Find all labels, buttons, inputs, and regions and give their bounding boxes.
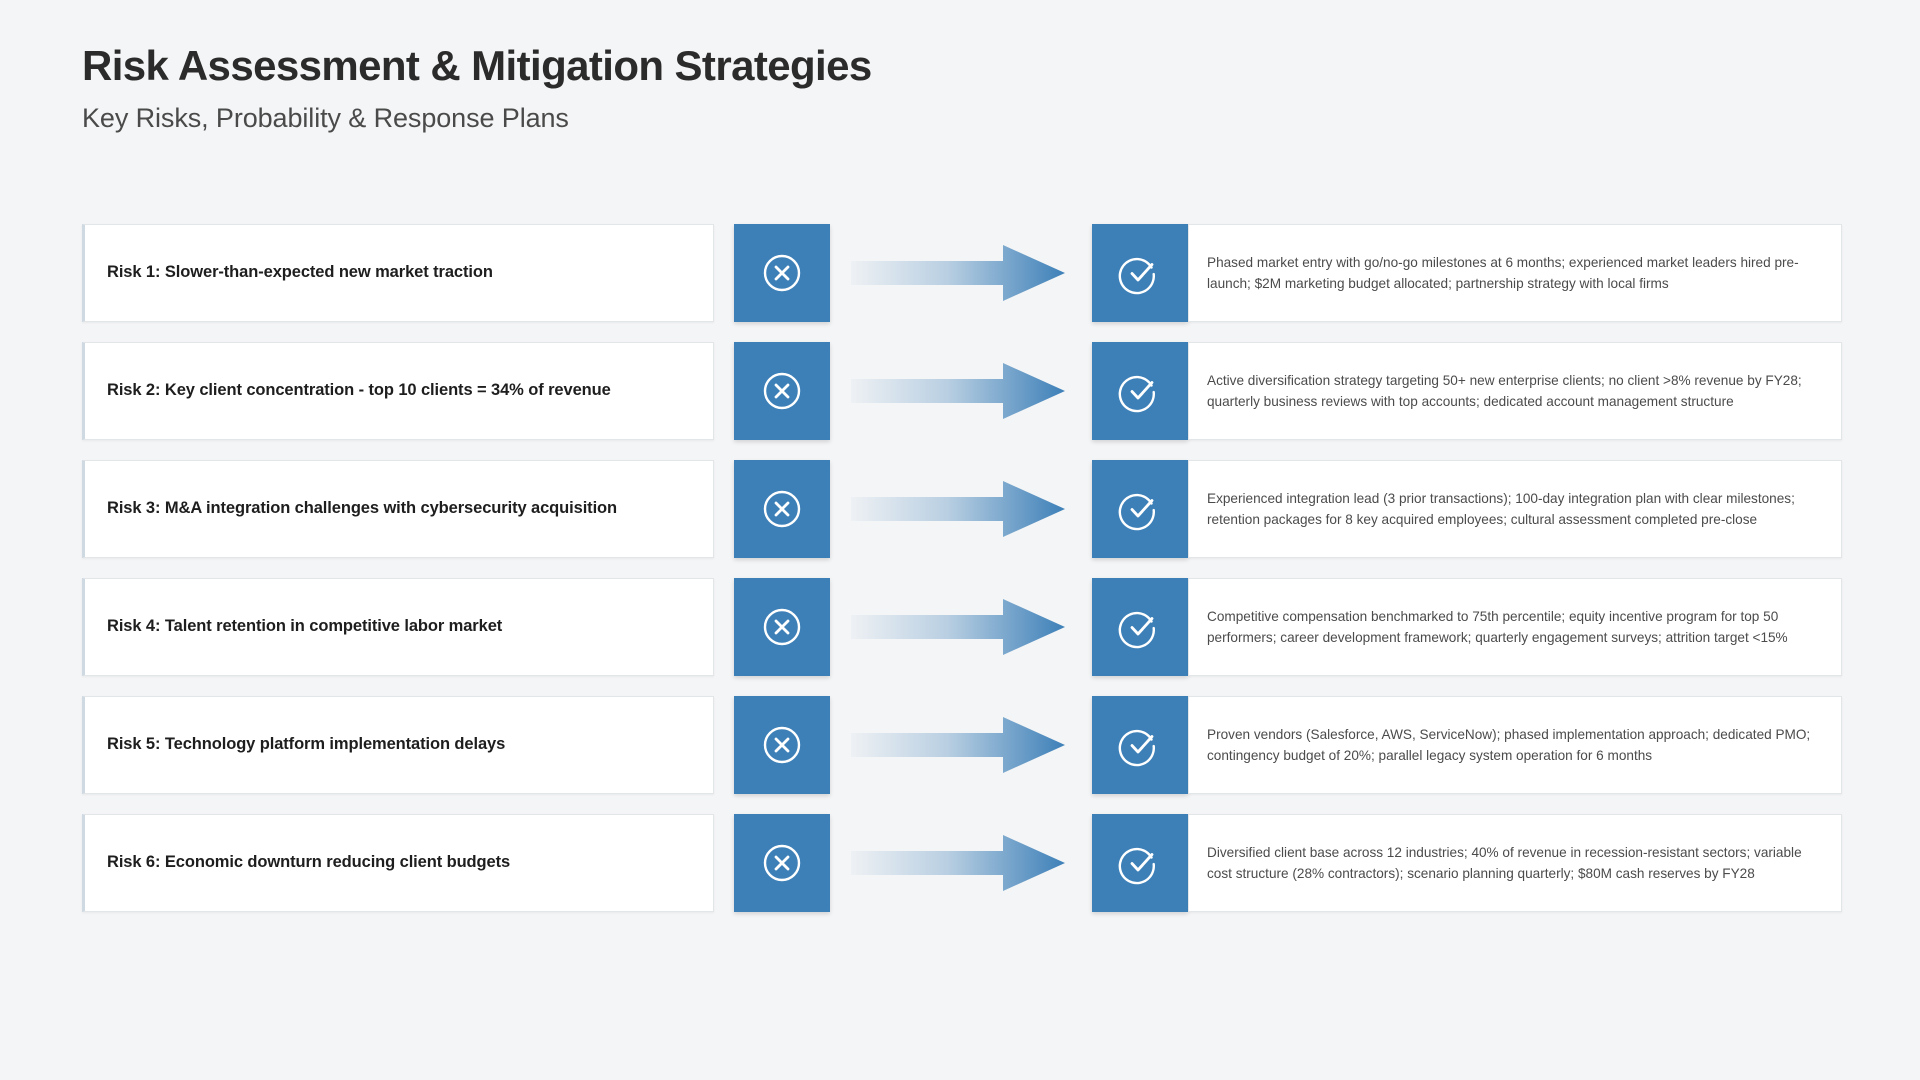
mitigation-text: Experienced integration lead (3 prior tr… <box>1207 488 1821 530</box>
risk-label: Risk 4: Talent retention in competitive … <box>107 615 502 638</box>
mitigation-icon-tile <box>1092 578 1188 676</box>
mitigation-text: Phased market entry with go/no-go milest… <box>1207 252 1821 294</box>
spacer <box>714 342 734 440</box>
risk-row: Risk 4: Talent retention in competitive … <box>82 578 1842 676</box>
right-arrow-icon <box>851 828 1071 898</box>
risk-icon-tile <box>734 224 830 322</box>
risk-row: Risk 3: M&A integration challenges with … <box>82 460 1842 558</box>
flow-arrow <box>830 814 1092 912</box>
risk-label: Risk 2: Key client concentration - top 1… <box>107 379 611 402</box>
flow-arrow <box>830 460 1092 558</box>
x-circle-icon <box>760 605 804 649</box>
mitigation-card[interactable]: Phased market entry with go/no-go milest… <box>1188 224 1842 322</box>
right-arrow-icon <box>851 592 1071 662</box>
check-circle-icon <box>1118 841 1162 885</box>
mitigation-card[interactable]: Diversified client base across 12 indust… <box>1188 814 1842 912</box>
flow-arrow <box>830 224 1092 322</box>
risk-card[interactable]: Risk 2: Key client concentration - top 1… <box>82 342 714 440</box>
x-circle-icon <box>760 369 804 413</box>
spacer <box>714 578 734 676</box>
mitigation-card[interactable]: Competitive compensation benchmarked to … <box>1188 578 1842 676</box>
mitigation-card[interactable]: Active diversification strategy targetin… <box>1188 342 1842 440</box>
spacer <box>714 814 734 912</box>
check-circle-icon <box>1118 723 1162 767</box>
risk-icon-tile <box>734 460 830 558</box>
risk-label: Risk 3: M&A integration challenges with … <box>107 497 617 520</box>
risk-card[interactable]: Risk 1: Slower-than-expected new market … <box>82 224 714 322</box>
risk-card[interactable]: Risk 5: Technology platform implementati… <box>82 696 714 794</box>
mitigation-text: Diversified client base across 12 indust… <box>1207 842 1821 884</box>
mitigation-icon-tile <box>1092 696 1188 794</box>
right-arrow-icon <box>851 474 1071 544</box>
risk-icon-tile <box>734 342 830 440</box>
check-circle-icon <box>1118 487 1162 531</box>
right-arrow-icon <box>851 238 1071 308</box>
risk-icon-tile <box>734 814 830 912</box>
page-title: Risk Assessment & Mitigation Strategies <box>82 42 872 89</box>
spacer <box>714 696 734 794</box>
right-arrow-icon <box>851 710 1071 780</box>
x-circle-icon <box>760 487 804 531</box>
flow-arrow <box>830 342 1092 440</box>
risk-rows-container: Risk 1: Slower-than-expected new market … <box>82 224 1842 932</box>
right-arrow-icon <box>851 356 1071 426</box>
mitigation-text: Proven vendors (Salesforce, AWS, Service… <box>1207 724 1821 766</box>
x-circle-icon <box>760 251 804 295</box>
check-circle-icon <box>1118 605 1162 649</box>
spacer <box>714 460 734 558</box>
risk-card[interactable]: Risk 3: M&A integration challenges with … <box>82 460 714 558</box>
spacer <box>714 224 734 322</box>
risk-label: Risk 1: Slower-than-expected new market … <box>107 261 493 284</box>
risk-row: Risk 2: Key client concentration - top 1… <box>82 342 1842 440</box>
mitigation-icon-tile <box>1092 224 1188 322</box>
mitigation-card[interactable]: Proven vendors (Salesforce, AWS, Service… <box>1188 696 1842 794</box>
mitigation-card[interactable]: Experienced integration lead (3 prior tr… <box>1188 460 1842 558</box>
x-circle-icon <box>760 841 804 885</box>
mitigation-text: Competitive compensation benchmarked to … <box>1207 606 1821 648</box>
check-circle-icon <box>1118 369 1162 413</box>
risk-icon-tile <box>734 578 830 676</box>
risk-label: Risk 5: Technology platform implementati… <box>107 733 505 756</box>
risk-label: Risk 6: Economic downturn reducing clien… <box>107 851 510 874</box>
x-circle-icon <box>760 723 804 767</box>
slide-header: Risk Assessment & Mitigation Strategies … <box>82 42 872 134</box>
mitigation-icon-tile <box>1092 814 1188 912</box>
risk-row: Risk 5: Technology platform implementati… <box>82 696 1842 794</box>
mitigation-text: Active diversification strategy targetin… <box>1207 370 1821 412</box>
risk-row: Risk 6: Economic downturn reducing clien… <box>82 814 1842 912</box>
flow-arrow <box>830 696 1092 794</box>
page-subtitle: Key Risks, Probability & Response Plans <box>82 103 872 134</box>
mitigation-icon-tile <box>1092 342 1188 440</box>
slide-root: Risk Assessment & Mitigation Strategies … <box>0 0 1920 1080</box>
check-circle-icon <box>1118 251 1162 295</box>
risk-icon-tile <box>734 696 830 794</box>
mitigation-icon-tile <box>1092 460 1188 558</box>
risk-card[interactable]: Risk 4: Talent retention in competitive … <box>82 578 714 676</box>
risk-card[interactable]: Risk 6: Economic downturn reducing clien… <box>82 814 714 912</box>
risk-row: Risk 1: Slower-than-expected new market … <box>82 224 1842 322</box>
flow-arrow <box>830 578 1092 676</box>
